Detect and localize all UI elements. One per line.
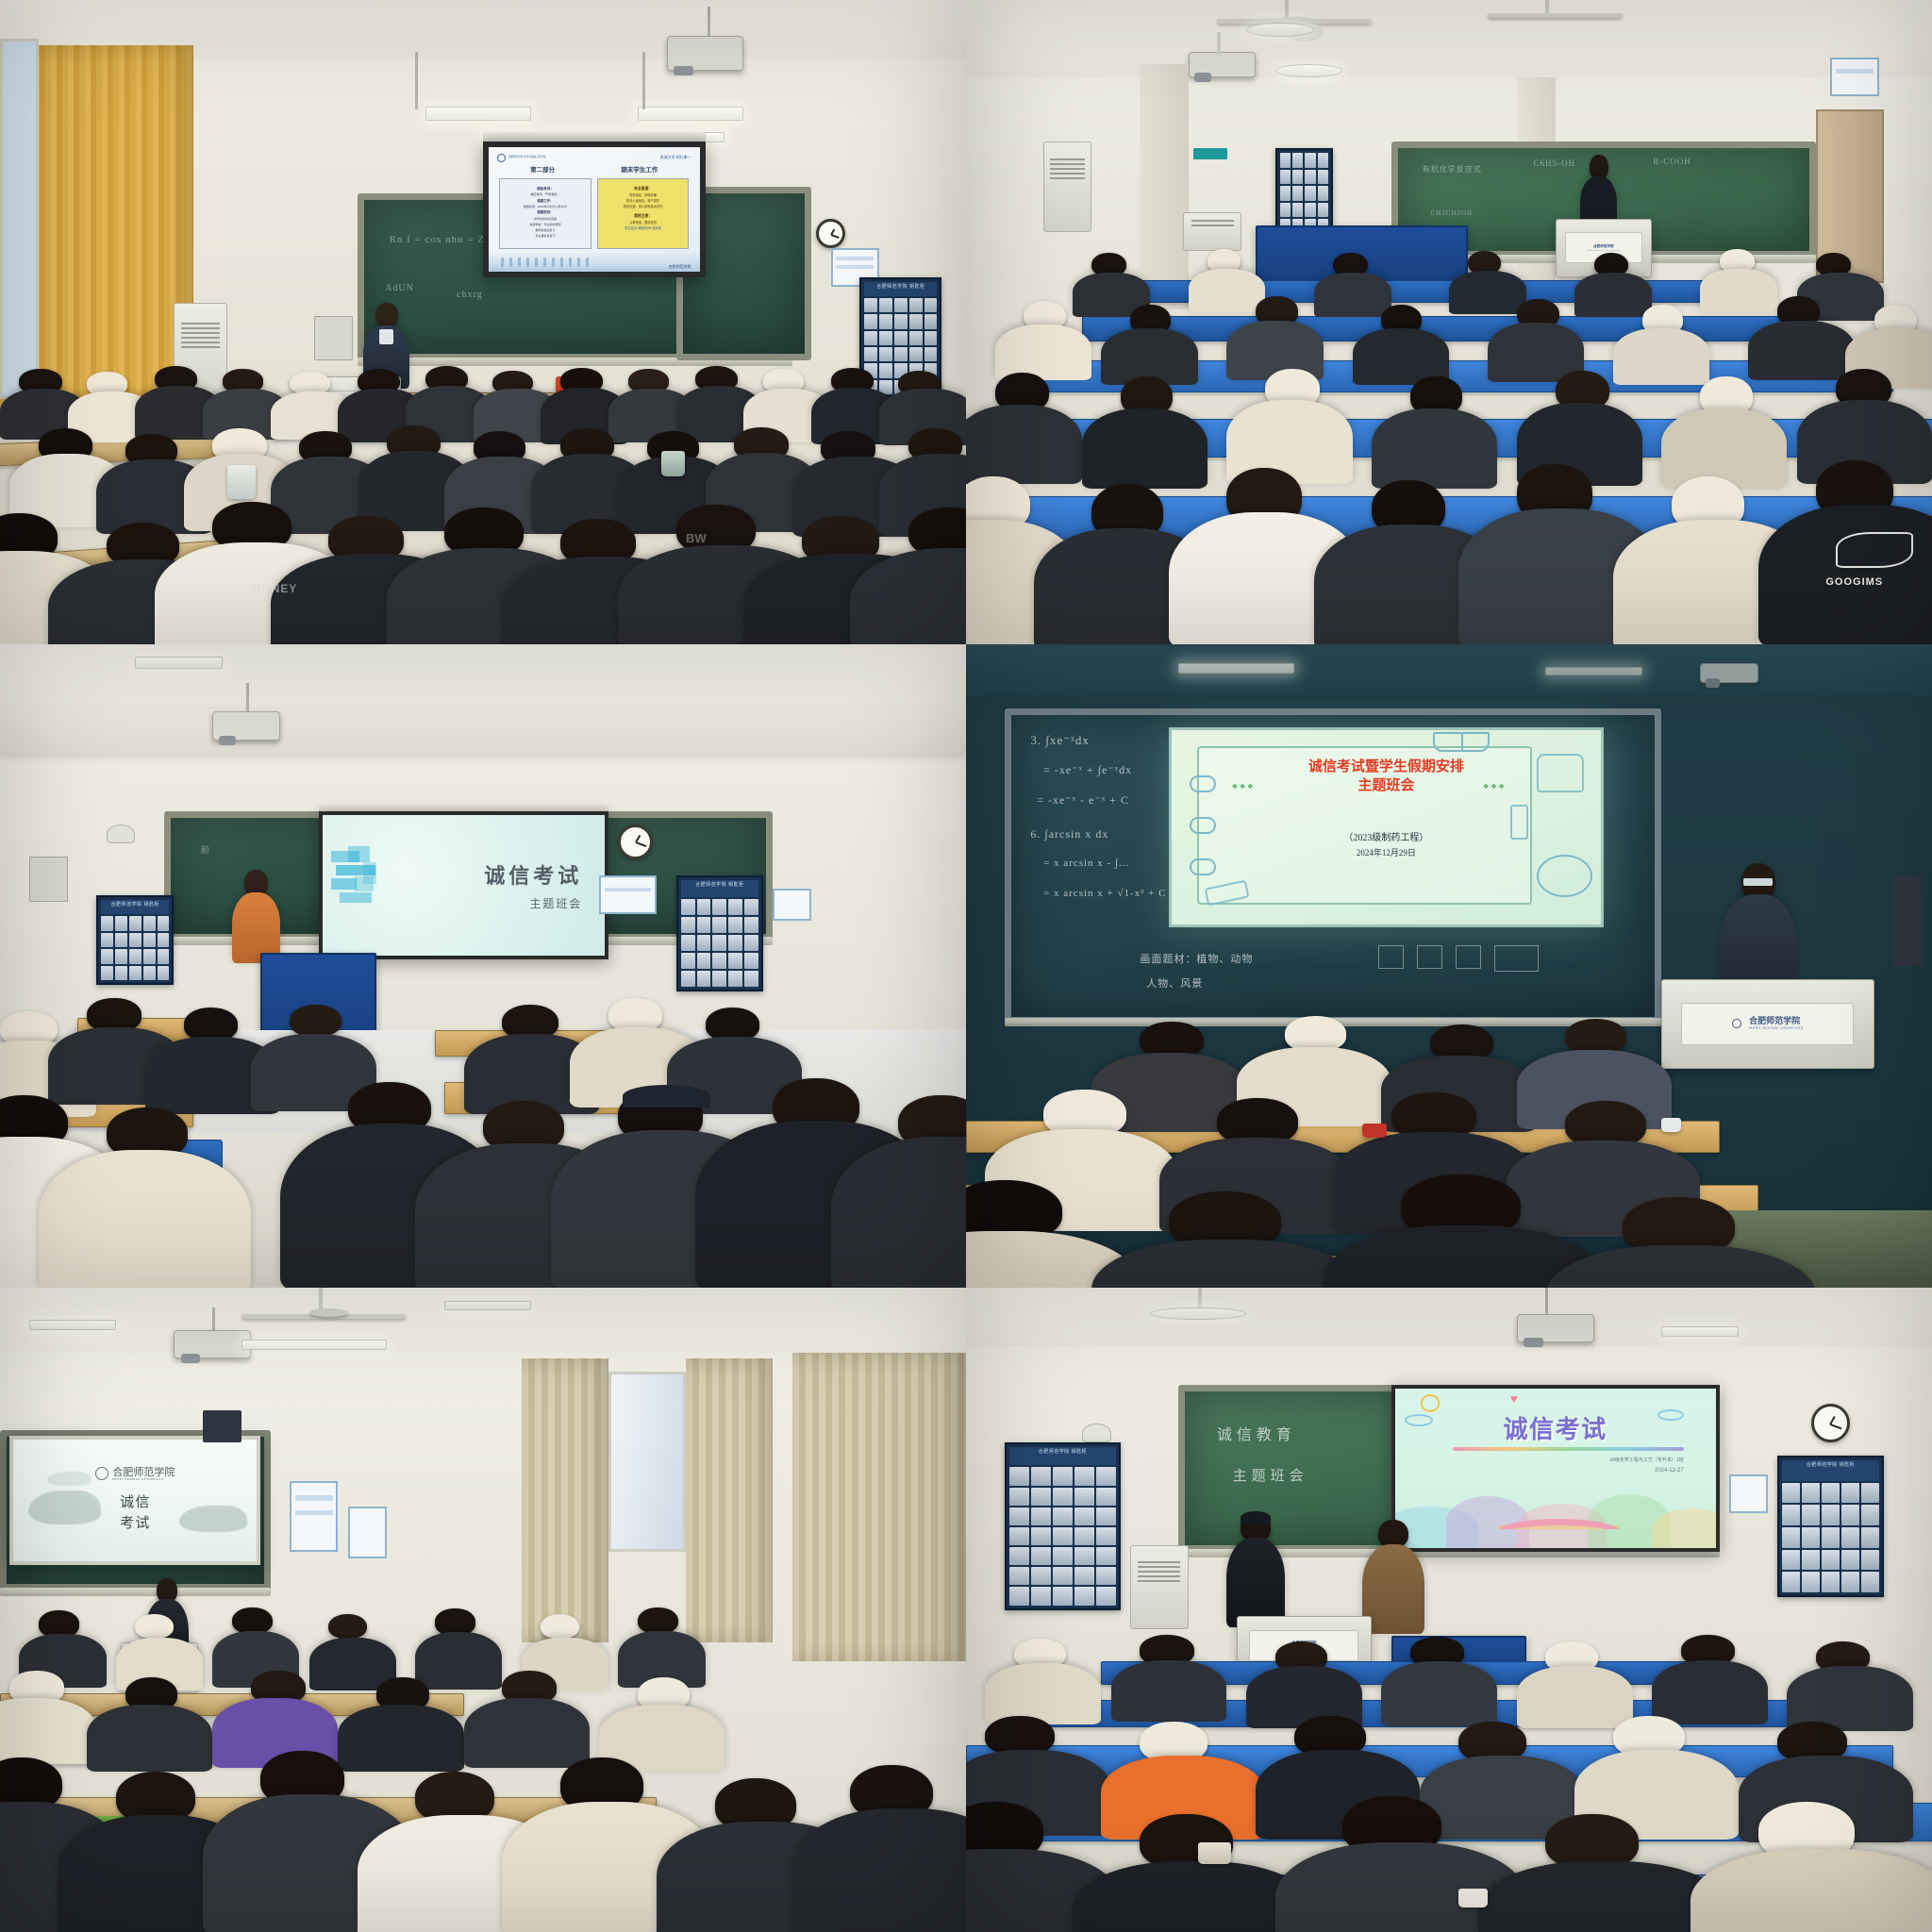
sun-doodle-icon: [1421, 1394, 1440, 1412]
slide-brand: 贵诚大学 如行拳一: [660, 155, 691, 160]
slide-subtitle-block: 24级化学工程与工艺（专升本）1班 2024-12-27: [1609, 1457, 1683, 1476]
key-cabinet-label: 合肥师范学院 钥匙柜: [1782, 1460, 1879, 1481]
presenter-student: [1226, 1513, 1284, 1623]
speaker: [1893, 875, 1923, 966]
projector: [1700, 663, 1757, 682]
ceiling-light: [1275, 64, 1343, 77]
presenter: [232, 870, 280, 960]
key-cabinet-label: 合肥师范学院 钥匙柜: [681, 880, 758, 896]
jacket-logo: [1836, 532, 1913, 568]
slide-text: 安全管理：: [634, 187, 652, 192]
chalk-line: 人物、风景: [1146, 975, 1203, 991]
projector: [667, 36, 744, 72]
slide-text: 假期工作：: [537, 199, 553, 204]
notice-board: [599, 875, 657, 914]
panel-bottom-right[interactable]: 诚信教育 主题班会 24化工1班 ♥ 诚信考试 24级化学工程与工艺（专升本）1…: [966, 1288, 1932, 1932]
projector: [1189, 52, 1257, 77]
water-bottle: [1661, 1118, 1680, 1132]
chalk-line: = x arcsin x - ∫...: [1043, 858, 1129, 869]
slide-footer: 合肥师范学院: [669, 264, 691, 270]
slide-content: 诚信考试暨学生假期安排 主题班会 ❖❖❖ ❖❖❖ （2023级制药工程） 202…: [1172, 730, 1601, 924]
chalk-line: 诚信教育: [1217, 1422, 1296, 1444]
slide-text: 离校注意：: [634, 214, 652, 219]
chalk-line: R-COOH: [1653, 157, 1691, 166]
projection-screen: 合肥师范学院 HEFEI NORMAL UNIVERSITY 诚信 考试: [9, 1436, 260, 1565]
projection-screen: 诚信考试 主题班会: [319, 811, 608, 959]
panel-middle-right[interactable]: 3. ∫xe⁻ˣdx = -xe⁻ˣ + ∫e⁻ˣdx = -xe⁻ˣ - e⁻…: [966, 644, 1932, 1289]
ceiling-light: [29, 1320, 116, 1330]
projector: [212, 711, 280, 741]
key-cabinet[interactable]: 合肥师范学院 钥匙柜: [1005, 1442, 1121, 1609]
chalk-line: 6. ∫arcsin x dx: [1030, 827, 1108, 841]
chalk-line: = x arcsin x + √1-x² + C: [1043, 888, 1166, 899]
air-conditioner: [1130, 1545, 1188, 1629]
slide-meta-line1: （2023级制药工程）: [1215, 831, 1558, 846]
notice-board: [348, 1507, 387, 1558]
slide-text: 诚信考试：: [537, 187, 554, 192]
student-audience: GOOGIMS: [966, 244, 1932, 643]
ceiling-light: [444, 1301, 531, 1310]
slide-content: ♥ 诚信考试 24级化学工程与工艺（专升本）1班 2024-12-27: [1395, 1389, 1716, 1548]
ceiling-light: [1246, 23, 1314, 37]
chalk-line: = -xe⁻ˣ - e⁻ˣ + C: [1037, 793, 1129, 808]
ceiling-light: [135, 657, 222, 668]
slide-title-right: 期末学生工作: [621, 164, 658, 174]
ceiling-light: [1661, 1326, 1739, 1337]
slide-text: 学生姓名+离校时间+目的地: [625, 226, 661, 230]
security-camera: [107, 824, 136, 843]
slide-date: 2024-12-27: [1609, 1467, 1683, 1475]
slide-text: 中华优秀文化实践: [534, 217, 557, 221]
key-cabinet-label: 合肥师范学院 钥匙柜: [101, 900, 169, 915]
air-conditioner: [1043, 142, 1091, 232]
thermos-bottle: [661, 451, 685, 476]
student-audience: [966, 1623, 1932, 1932]
slide-box-right: 安全管理： 防范电信、网络诈骗 防范人身危险、财产损失 防范交通、用火用电用水意…: [597, 178, 690, 249]
key-cabinet-label: 合肥师范学院 钥匙柜: [864, 282, 937, 296]
chalk-line: C6H5-OH: [1534, 158, 1576, 168]
chalk-line: = -xe⁻ˣ + ∫e⁻ˣdx: [1043, 763, 1132, 777]
baseball-cap: [623, 1085, 709, 1108]
slide-subtitle: 主题班会: [484, 895, 582, 911]
slide-text: 教师资格证复习: [535, 228, 555, 232]
hills-illustration: [1395, 1481, 1716, 1548]
cup: [1362, 1124, 1388, 1138]
slide-text: 考研学校、专业初步规划: [529, 223, 560, 226]
slide-dots-left: ❖❖❖: [1232, 783, 1256, 791]
slide-logo-text: 合肥师范学院 化学与制药工程学院: [508, 157, 546, 159]
slide-title-line2: 考试: [120, 1514, 150, 1535]
slide-title: 诚信考试: [1395, 1410, 1716, 1445]
projection-screen: 诚信考试暨学生假期安排 主题班会 ❖❖❖ ❖❖❖ （2023级制药工程） 202…: [1169, 727, 1604, 927]
slide-box-left: 诚信考试： 端正考风、严肃考纪； 假期工作： 放假时间：2025年1月6日-2月…: [499, 178, 591, 249]
projection-screen: ♥ 诚信考试 24级化学工程与工艺（专升本）1班 2024-12-27: [1391, 1385, 1720, 1552]
student-audience: [0, 966, 966, 1288]
slide-text: 专业课补考复习: [535, 234, 555, 238]
slide-subtitle: 24级化学工程与工艺（专升本）1班: [1609, 1457, 1683, 1465]
projector: [1517, 1314, 1594, 1343]
slide-text: 防范电信、网络诈骗: [629, 193, 657, 197]
book-doodle-icon: [1433, 732, 1489, 752]
security-camera: [1082, 1424, 1111, 1442]
heart-doodle-icon: ♥: [1510, 1391, 1518, 1406]
ceiling-light: [638, 107, 744, 121]
wall-clock: [1811, 1404, 1850, 1442]
slide-content: 合肥师范学院 HEFEI NORMAL UNIVERSITY 诚信 考试: [13, 1440, 257, 1561]
ceiling-light: [425, 107, 532, 121]
slide-content: 合肥师范学院 化学与制药工程学院 贵诚大学 如行拳一 第二部分 期末学生工作 诚…: [489, 147, 700, 271]
student-audience: [966, 1005, 1932, 1288]
slide-title: 诚信考试: [484, 859, 582, 890]
slide-text: 端正考风、严肃考纪；: [530, 192, 559, 196]
key-cabinet-label: 合肥师范学院 钥匙柜: [1009, 1447, 1116, 1465]
chalk-line: chxrg: [457, 290, 483, 300]
ceiling-light: [1545, 667, 1641, 676]
slide-meta-line2: 2024年12月29日: [1215, 846, 1558, 859]
panel-middle-left[interactable]: 前 诚信考试 主题班会: [0, 644, 966, 1289]
slide-content: 诚信考试 主题班会: [323, 815, 605, 956]
panel-bottom-left[interactable]: 合肥师范学院 HEFEI NORMAL UNIVERSITY 诚信 考试: [0, 1288, 966, 1932]
clock-doodle-icon: [1537, 855, 1592, 897]
slide-rings: [1190, 763, 1216, 888]
slide-title-line1: 诚信: [120, 1493, 150, 1514]
slide-title-line1: 诚信考试暨学生假期安排: [1215, 758, 1558, 776]
slide-text: 防范人身危险、财产损失: [626, 199, 659, 203]
student-audience: MONEY BW: [0, 360, 966, 643]
ceiling-light: [1178, 663, 1294, 674]
notice-board: [773, 889, 811, 921]
ceiling-fan: [1488, 13, 1623, 18]
slide-decoration: [331, 846, 416, 919]
drink-cup: [1458, 1889, 1488, 1907]
ceiling-light: [241, 1340, 387, 1350]
notice-board: [1830, 58, 1878, 96]
jacket-brand-text: GOOGIMS: [1825, 576, 1883, 588]
slide-dots-right: ❖❖❖: [1483, 783, 1507, 791]
notice-board: [290, 1481, 338, 1552]
drink-cup: [1198, 1842, 1231, 1864]
chalk-line: 有机化学反应式: [1423, 164, 1482, 175]
slide-meta: （2023级制药工程） 2024年12月29日: [1215, 831, 1558, 859]
chalk-line: 3. ∫xe⁻ˣdx: [1030, 733, 1089, 748]
notice-board: [1729, 1474, 1768, 1513]
key-cabinet[interactable]: 合肥师范学院 钥匙柜: [1777, 1456, 1884, 1597]
panel-top-left[interactable]: Rn f = cos nhu = Znl4 AdUN chxrg 合肥师范学院 …: [0, 0, 966, 644]
slide-text: 防范交通、用火用电用水意外: [624, 205, 662, 208]
chalk-line: 主题班会: [1233, 1465, 1308, 1485]
thermos-bottle: [227, 465, 257, 499]
wall-clock: [618, 824, 653, 859]
slide-text: 假期安排：: [537, 210, 553, 215]
chalk-line: AdUN: [385, 283, 414, 293]
projector: [174, 1330, 251, 1359]
slide-title-left: 第二部分: [530, 164, 555, 174]
panel-top-right[interactable]: 有机化学反应式 C6H5-OH R-COOH CH3CH2OH 合肥师范学院 H…: [966, 0, 1932, 644]
slide-text: 放假时间：2025年1月6日-2月16日: [524, 205, 567, 208]
window: [608, 1372, 686, 1552]
chalk-line: CH3CH2OH: [1430, 209, 1473, 217]
projection-screen: 合肥师范学院 化学与制药工程学院 贵诚大学 如行拳一 第二部分 期末学生工作 诚…: [483, 142, 706, 276]
photo-collage: Rn f = cos nhu = Znl4 AdUN chxrg 合肥师范学院 …: [0, 0, 1932, 1932]
speaker: [203, 1410, 241, 1442]
slide-logo: 合肥师范学院 HEFEI NORMAL UNIVERSITY: [95, 1467, 175, 1481]
slide-logo-en: HEFEI NORMAL UNIVERSITY: [112, 1478, 175, 1481]
window: [0, 39, 39, 399]
chalk-line: 画面题材：植物、动物: [1140, 951, 1253, 966]
slide-text: 父母电话、陪伴告知: [629, 221, 657, 225]
presenter-teacher: [1362, 1520, 1425, 1629]
rainbow-divider: [1453, 1447, 1684, 1451]
student-audience: [0, 1597, 966, 1932]
slide-logo-cn: 合肥师范学院: [112, 1467, 175, 1478]
